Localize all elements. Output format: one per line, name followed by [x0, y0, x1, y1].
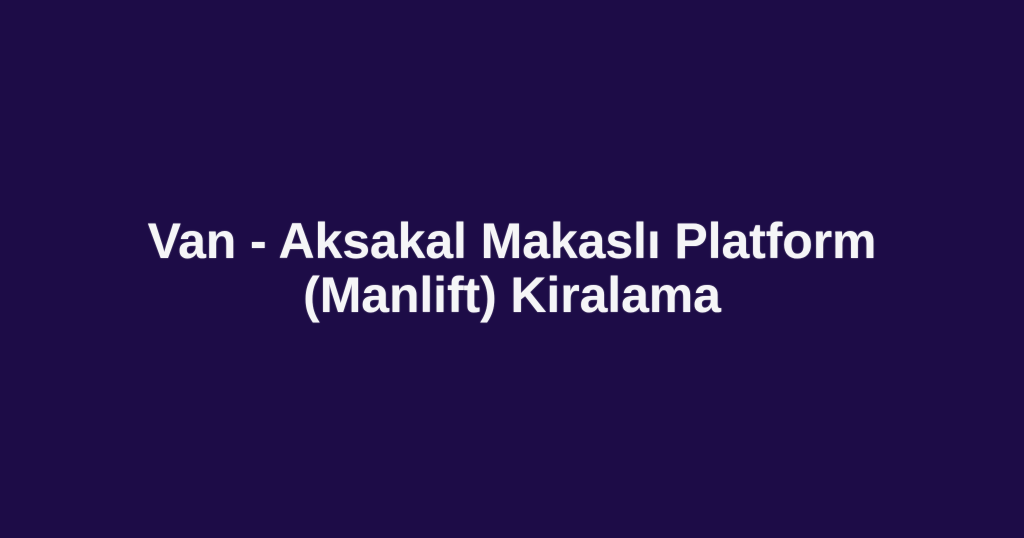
title-block: Van - Aksakal Makaslı Platform(Manlift) …: [0, 214, 1024, 322]
page-title: Van - Aksakal Makaslı Platform(Manlift) …: [40, 214, 984, 322]
page-title-line-2: (Manlift) Kiralama: [40, 268, 984, 322]
hero-banner: Van - Aksakal Makaslı Platform(Manlift) …: [0, 0, 1024, 538]
page-title-line-1: Van - Aksakal Makaslı Platform: [40, 214, 984, 268]
